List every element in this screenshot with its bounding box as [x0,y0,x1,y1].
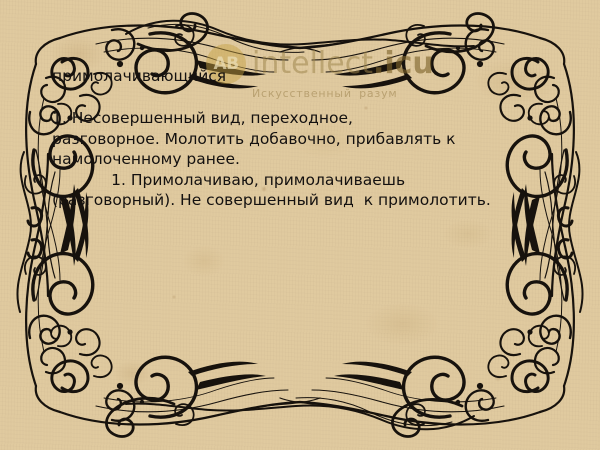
entry-sense-1: 1. Несовершенный вид, переходное, разгов… [52,108,562,170]
entry-card: AB intellect.icu Искусственный разум при… [0,0,600,450]
entry-headword: примолачивающийся [52,66,562,86]
entry-content: примолачивающийся 1. Несовершенный вид, … [52,66,562,211]
entry-sense-2: 1. Примолачиваю, примолачиваешь (разгово… [52,170,562,211]
